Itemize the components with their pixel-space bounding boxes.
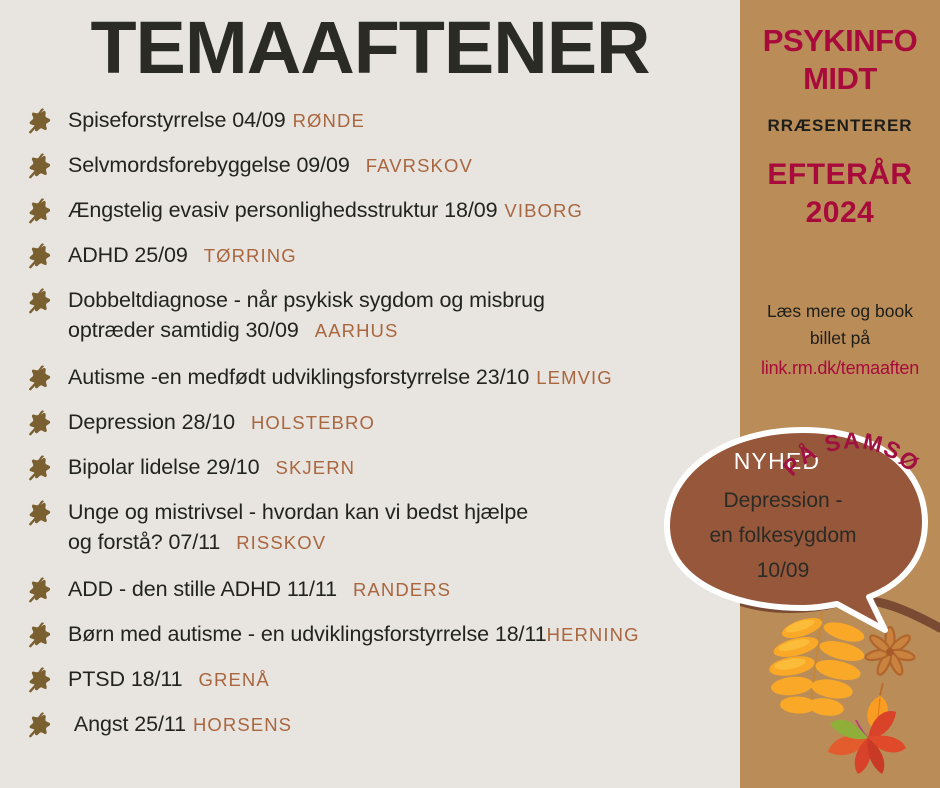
event-title: Spiseforstyrrelse 04/09 [68, 108, 286, 132]
pushpin-icon [26, 710, 56, 740]
booking-block: Læs mere og book billet på link.rm.dk/te… [740, 298, 940, 381]
pushpin-icon [26, 408, 56, 438]
event-location: AARHUS [315, 320, 399, 341]
news-bubble: NYHED Depression - en folkesygdom 10/09 … [655, 418, 940, 653]
event-title: Dobbeltdiagnose - når psykisk sygdom og … [68, 288, 545, 342]
pushpin-icon [26, 665, 56, 695]
brand-name: PSYKINFO MIDT [740, 22, 940, 98]
event-location: GRENÅ [199, 669, 270, 690]
event-text-wrap: ADHD 25/09TØRRING [68, 240, 297, 271]
bubble-content: NYHED Depression - en folkesygdom 10/09 [673, 446, 903, 588]
event-row[interactable]: Selvmordsforebyggelse 09/09FAVRSKOV [26, 150, 740, 181]
event-text-wrap: Spiseforstyrrelse 04/09RØNDE [68, 105, 365, 136]
event-row[interactable]: Angst 25/11HORSENS [26, 709, 740, 740]
pushpin-icon [26, 498, 56, 528]
event-location: RØNDE [293, 110, 365, 131]
event-title: Depression 28/10 [68, 410, 235, 434]
event-text-wrap: Bipolar lidelse 29/10SKJERN [68, 452, 355, 483]
pushpin-icon [26, 363, 56, 393]
event-title: Ængstelig evasiv personlighedsstruktur 1… [68, 198, 497, 222]
event-row[interactable]: Unge og mistrivsel - hvordan kan vi beds… [26, 497, 740, 558]
pushpin-icon [26, 575, 56, 605]
booking-link[interactable]: link.rm.dk/temaaften [748, 355, 932, 381]
pushpin-icon [26, 196, 56, 226]
season-label: EFTERÅR 2024 [740, 156, 940, 232]
event-title: Børn med autisme - en udviklingsforstyrr… [68, 622, 547, 646]
poster-canvas: TEMAAFTENER Spiseforstyrrelse 04/09RØNDE… [0, 0, 940, 788]
event-row[interactable]: Autisme -en medfødt udviklingsforstyrrel… [26, 362, 740, 393]
event-text-wrap: Unge og mistrivsel - hvordan kan vi beds… [68, 497, 528, 558]
event-row[interactable]: Spiseforstyrrelse 04/09RØNDE [26, 105, 740, 136]
event-row[interactable]: Ængstelig evasiv personlighedsstruktur 1… [26, 195, 740, 226]
event-location: VIBORG [504, 200, 583, 221]
pushpin-icon [26, 453, 56, 483]
event-location: LEMVIG [536, 367, 613, 388]
event-title: PTSD 18/11 [68, 667, 183, 691]
event-row[interactable]: ADD - den stille ADHD 11/11RANDERS [26, 574, 740, 605]
event-title: Angst 25/11 [68, 712, 186, 736]
page-title: TEMAAFTENER [0, 6, 747, 90]
news-badge-label: NYHED [651, 446, 903, 476]
event-location: TØRRING [204, 245, 297, 266]
event-title: Selvmordsforebyggelse 09/09 [68, 153, 350, 177]
event-row[interactable]: PTSD 18/11GRENÅ [26, 664, 740, 695]
event-row[interactable]: Børn med autisme - en udviklingsforstyrr… [26, 619, 740, 650]
event-location: SKJERN [276, 457, 356, 478]
pushpin-icon [26, 106, 56, 136]
event-row[interactable]: Bipolar lidelse 29/10SKJERN [26, 452, 740, 483]
event-location: FAVRSKOV [366, 155, 473, 176]
event-text-wrap: Selvmordsforebyggelse 09/09FAVRSKOV [68, 150, 473, 181]
event-title: Bipolar lidelse 29/10 [68, 455, 260, 479]
event-title: ADD - den stille ADHD 11/11 [68, 577, 337, 601]
event-text-wrap: ADD - den stille ADHD 11/11RANDERS [68, 574, 451, 605]
event-row[interactable]: Depression 28/10HOLSTEBRO [26, 407, 740, 438]
event-location: HOLSTEBRO [251, 412, 375, 433]
pushpin-icon [26, 620, 56, 650]
presents-label: RRÆSENTERER [740, 116, 940, 136]
booking-instructions: Læs mere og book billet på [748, 298, 932, 352]
event-text-wrap: Dobbeltdiagnose - når psykisk sygdom og … [68, 285, 545, 346]
pushpin-icon [26, 286, 56, 316]
event-text-wrap: Angst 25/11HORSENS [68, 709, 292, 740]
pushpin-icon [26, 151, 56, 181]
event-row[interactable]: ADHD 25/09TØRRING [26, 240, 740, 271]
event-location: RISSKOV [236, 532, 326, 553]
event-title: ADHD 25/09 [68, 243, 188, 267]
main-column: TEMAAFTENER Spiseforstyrrelse 04/09RØNDE… [0, 0, 740, 788]
event-row[interactable]: Dobbeltdiagnose - når psykisk sygdom og … [26, 285, 740, 346]
event-text-wrap: PTSD 18/11GRENÅ [68, 664, 270, 695]
chestnut-leaf-icon [828, 711, 906, 774]
bubble-event-text: Depression - en folkesygdom 10/09 [663, 483, 903, 588]
event-location: RANDERS [353, 579, 451, 600]
event-list: Spiseforstyrrelse 04/09RØNDESelvmordsfor… [26, 105, 740, 754]
event-location: HERNING [547, 624, 640, 645]
event-text-wrap: Ængstelig evasiv personlighedsstruktur 1… [68, 195, 583, 226]
event-title: Autisme -en medfødt udviklingsforstyrrel… [68, 365, 529, 389]
event-text-wrap: Autisme -en medfødt udviklingsforstyrrel… [68, 362, 613, 393]
event-text-wrap: Depression 28/10HOLSTEBRO [68, 407, 375, 438]
event-text-wrap: Børn med autisme - en udviklingsforstyrr… [68, 619, 640, 650]
pushpin-icon [26, 241, 56, 271]
event-location: HORSENS [193, 714, 292, 735]
